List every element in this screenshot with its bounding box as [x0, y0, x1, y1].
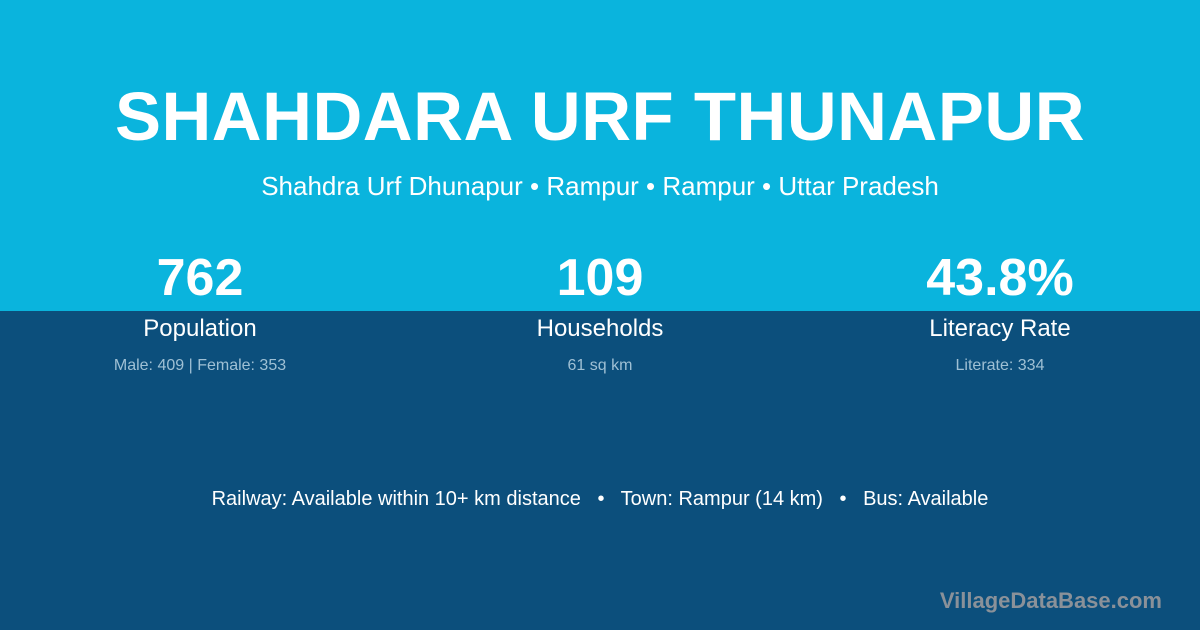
stat-sublabel: 61 sq km [400, 356, 800, 376]
amenity-bus: Bus: Available [863, 488, 988, 510]
stat-literacy-rate: 43.8% Literacy Rate Literate: 334 [800, 250, 1200, 376]
stat-value: 109 [400, 250, 800, 306]
amenity-separator: • [829, 488, 858, 510]
header: SHAHDARA URF THUNAPUR Shahdra Urf Dhunap… [0, 0, 1200, 199]
stat-label: Population [0, 315, 400, 343]
stat-value: 762 [0, 250, 400, 306]
amenity-railway: Railway: Available within 10+ km distanc… [212, 488, 581, 510]
stat-value: 43.8% [800, 250, 1200, 306]
stat-sublabel: Literate: 334 [800, 356, 1200, 376]
stat-population: 762 Population Male: 409 | Female: 353 [0, 250, 400, 376]
amenity-town: Town: Rampur (14 km) [621, 488, 823, 510]
stat-sublabel: Male: 409 | Female: 353 [0, 356, 400, 376]
stat-label: Literacy Rate [800, 315, 1200, 343]
village-info-card: SHAHDARA URF THUNAPUR Shahdra Urf Dhunap… [0, 0, 1200, 630]
amenities-line: Railway: Available within 10+ km distanc… [0, 485, 1200, 513]
location-breadcrumb: Shahdra Urf Dhunapur • Rampur • Rampur •… [0, 151, 1200, 199]
amenity-separator: • [586, 488, 615, 510]
stats-row: 762 Population Male: 409 | Female: 353 1… [0, 250, 1200, 376]
site-watermark: VillageDataBase.com [940, 588, 1162, 614]
page-title: SHAHDARA URF THUNAPUR [0, 0, 1200, 151]
stat-label: Households [400, 315, 800, 343]
stat-households: 109 Households 61 sq km [400, 250, 800, 376]
